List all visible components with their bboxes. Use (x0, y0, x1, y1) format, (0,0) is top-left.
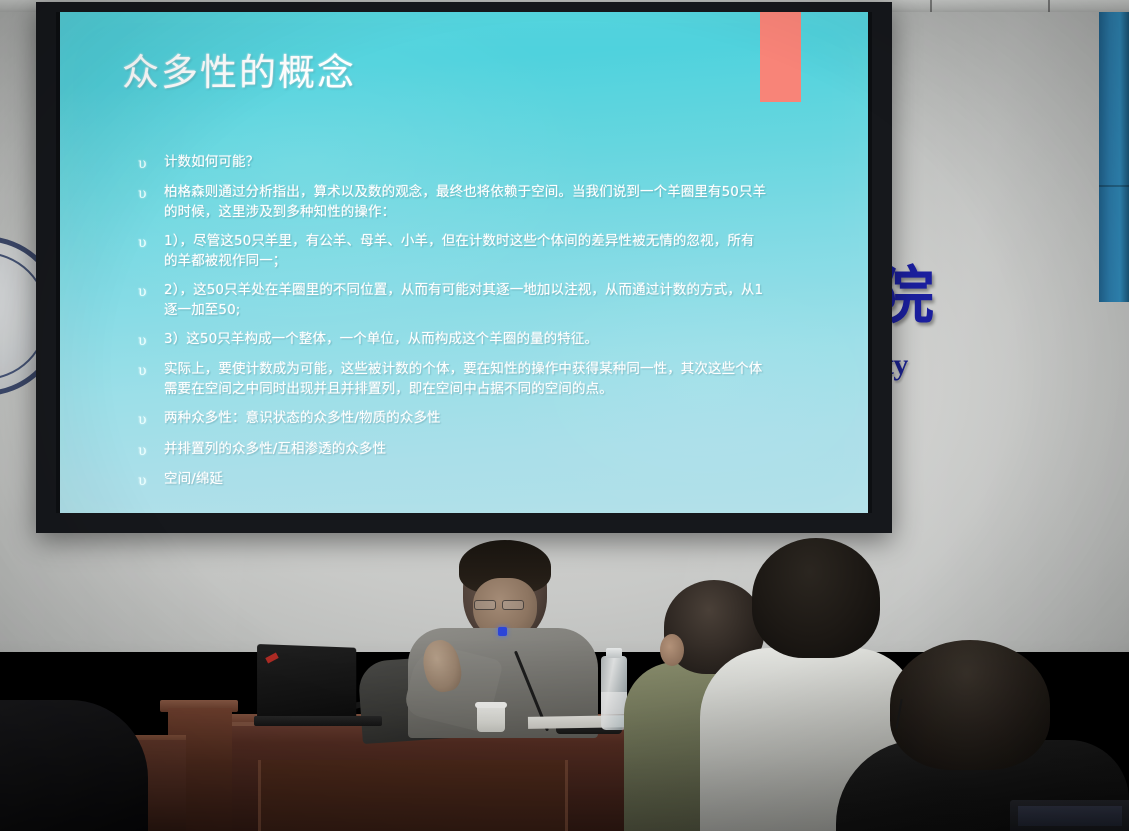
coffee-cup-on-desk (477, 704, 505, 732)
audience-member-hand (660, 634, 684, 666)
speaker-glasses-left (474, 600, 496, 610)
desk-front-panel (258, 760, 568, 831)
audience-laptop-screen (1018, 806, 1122, 826)
coffee-cup-lid (475, 702, 507, 708)
lecture-room-scene: School of Phi 院 ity 众多性的概念 υ计数如何可能？υ柏格森则… (0, 0, 1129, 831)
water-bottle-cap (606, 648, 622, 658)
audience-member-body (0, 700, 148, 831)
blue-wall-panel (1099, 12, 1129, 302)
speaker-badge (498, 627, 507, 636)
speaker-laptop-base (254, 716, 382, 726)
audience-member-head (890, 640, 1050, 770)
blue-panel-seam (1099, 185, 1129, 187)
speaker-glasses-right (502, 600, 524, 610)
audience-member-head (752, 538, 880, 658)
screen-bezel (36, 2, 892, 533)
